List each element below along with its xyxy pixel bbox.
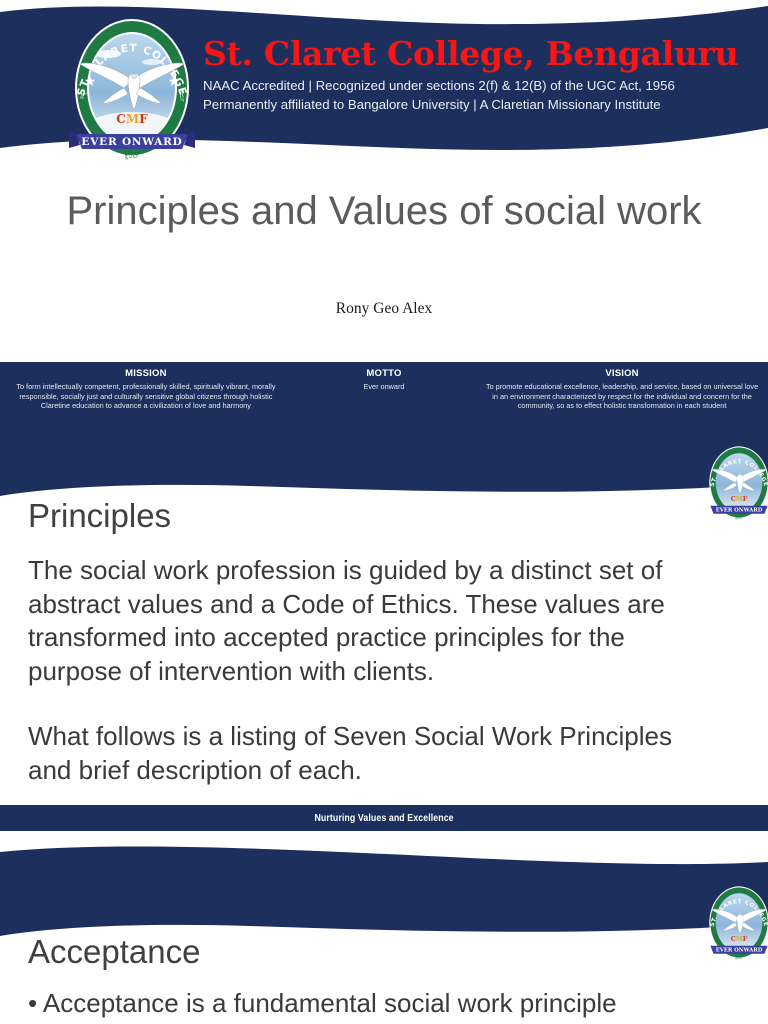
college-crest-icon: ST. CLARET COLLEGE CMF EVER ONWARD ಕ್ಲರೆ… [704, 885, 768, 961]
footer-tagline: Nurturing Values and Excellence [314, 813, 453, 824]
slide-body: The social work profession is guided by … [28, 554, 688, 819]
mission-motto-vision-band: MISSION To form intellectually competent… [0, 362, 768, 442]
slide-bottom-wave [0, 834, 768, 884]
mission-body: To form intellectually competent, profes… [8, 382, 284, 411]
svg-text:EVER ONWARD: EVER ONWARD [716, 948, 763, 954]
mission-heading: MISSION [8, 368, 284, 379]
slide-heading: Acceptance [28, 932, 200, 972]
svg-text:CMF: CMF [731, 936, 748, 943]
principles-paragraph-1: The social work profession is guided by … [28, 554, 688, 688]
vision-body: To promote educational excellence, leade… [484, 382, 760, 411]
slide-heading: Principles [28, 496, 171, 536]
college-crest-icon: ST. CLARET COLLEGE CMF EVER ONWARD ಕ್ಲರೆ… [704, 445, 768, 521]
affiliation-line: Permanently affiliated to Bangalore Univ… [203, 96, 703, 115]
motto-column: MOTTO Ever onward [292, 362, 476, 442]
svg-text:CMF: CMF [731, 496, 748, 503]
title-slide: ST. CLARET COLLEGE CMF EVER ONWARD ಕ್ಲರೆ [0, 0, 768, 362]
svg-text:EVER ONWARD: EVER ONWARD [81, 136, 182, 148]
accreditation-line: NAAC Accredited | Recognized under secti… [203, 77, 703, 96]
header-text-block: St. Claret College, Bengaluru NAAC Accre… [203, 34, 703, 114]
acceptance-bullet-1: • Acceptance is a fundamental social wor… [28, 987, 728, 1020]
presentation-page: ST. CLARET COLLEGE CMF EVER ONWARD ಕ್ಲರೆ [0, 0, 768, 1024]
slide-top-wave [0, 442, 768, 504]
page-title: Principles and Values of social work [60, 188, 708, 235]
motto-body: Ever onward [300, 382, 468, 392]
svg-text:CMF: CMF [116, 112, 148, 126]
slide-footer-band: Nurturing Values and Excellence [0, 805, 768, 831]
vision-heading: VISION [484, 368, 760, 379]
motto-heading: MOTTO [300, 368, 468, 379]
svg-text:ಕ್ಲರೆಟ್: ಕ್ಲರೆಟ್ [735, 956, 744, 960]
principles-paragraph-2: What follows is a listing of Seven Socia… [28, 720, 688, 787]
vision-column: VISION To promote educational excellence… [476, 362, 768, 442]
mission-column: MISSION To form intellectually competent… [0, 362, 292, 442]
college-crest-icon: ST. CLARET COLLEGE CMF EVER ONWARD ಕ್ಲರೆ [66, 18, 198, 160]
svg-text:ಕ್ಲರೆಟ್: ಕ್ಲರೆಟ್ [124, 152, 139, 160]
college-name: St. Claret College, Bengaluru [203, 34, 703, 74]
acceptance-slide: ST. CLARET COLLEGE CMF EVER ONWARD ಕ್ಲರೆ… [0, 884, 768, 1024]
svg-text:EVER ONWARD: EVER ONWARD [716, 508, 763, 514]
principles-slide: ST. CLARET COLLEGE CMF EVER ONWARD ಕ್ಲರೆ… [0, 442, 768, 884]
author-name: Rony Geo Alex [60, 300, 708, 318]
svg-text:ಕ್ಲರೆಟ್: ಕ್ಲರೆಟ್ [735, 516, 744, 520]
